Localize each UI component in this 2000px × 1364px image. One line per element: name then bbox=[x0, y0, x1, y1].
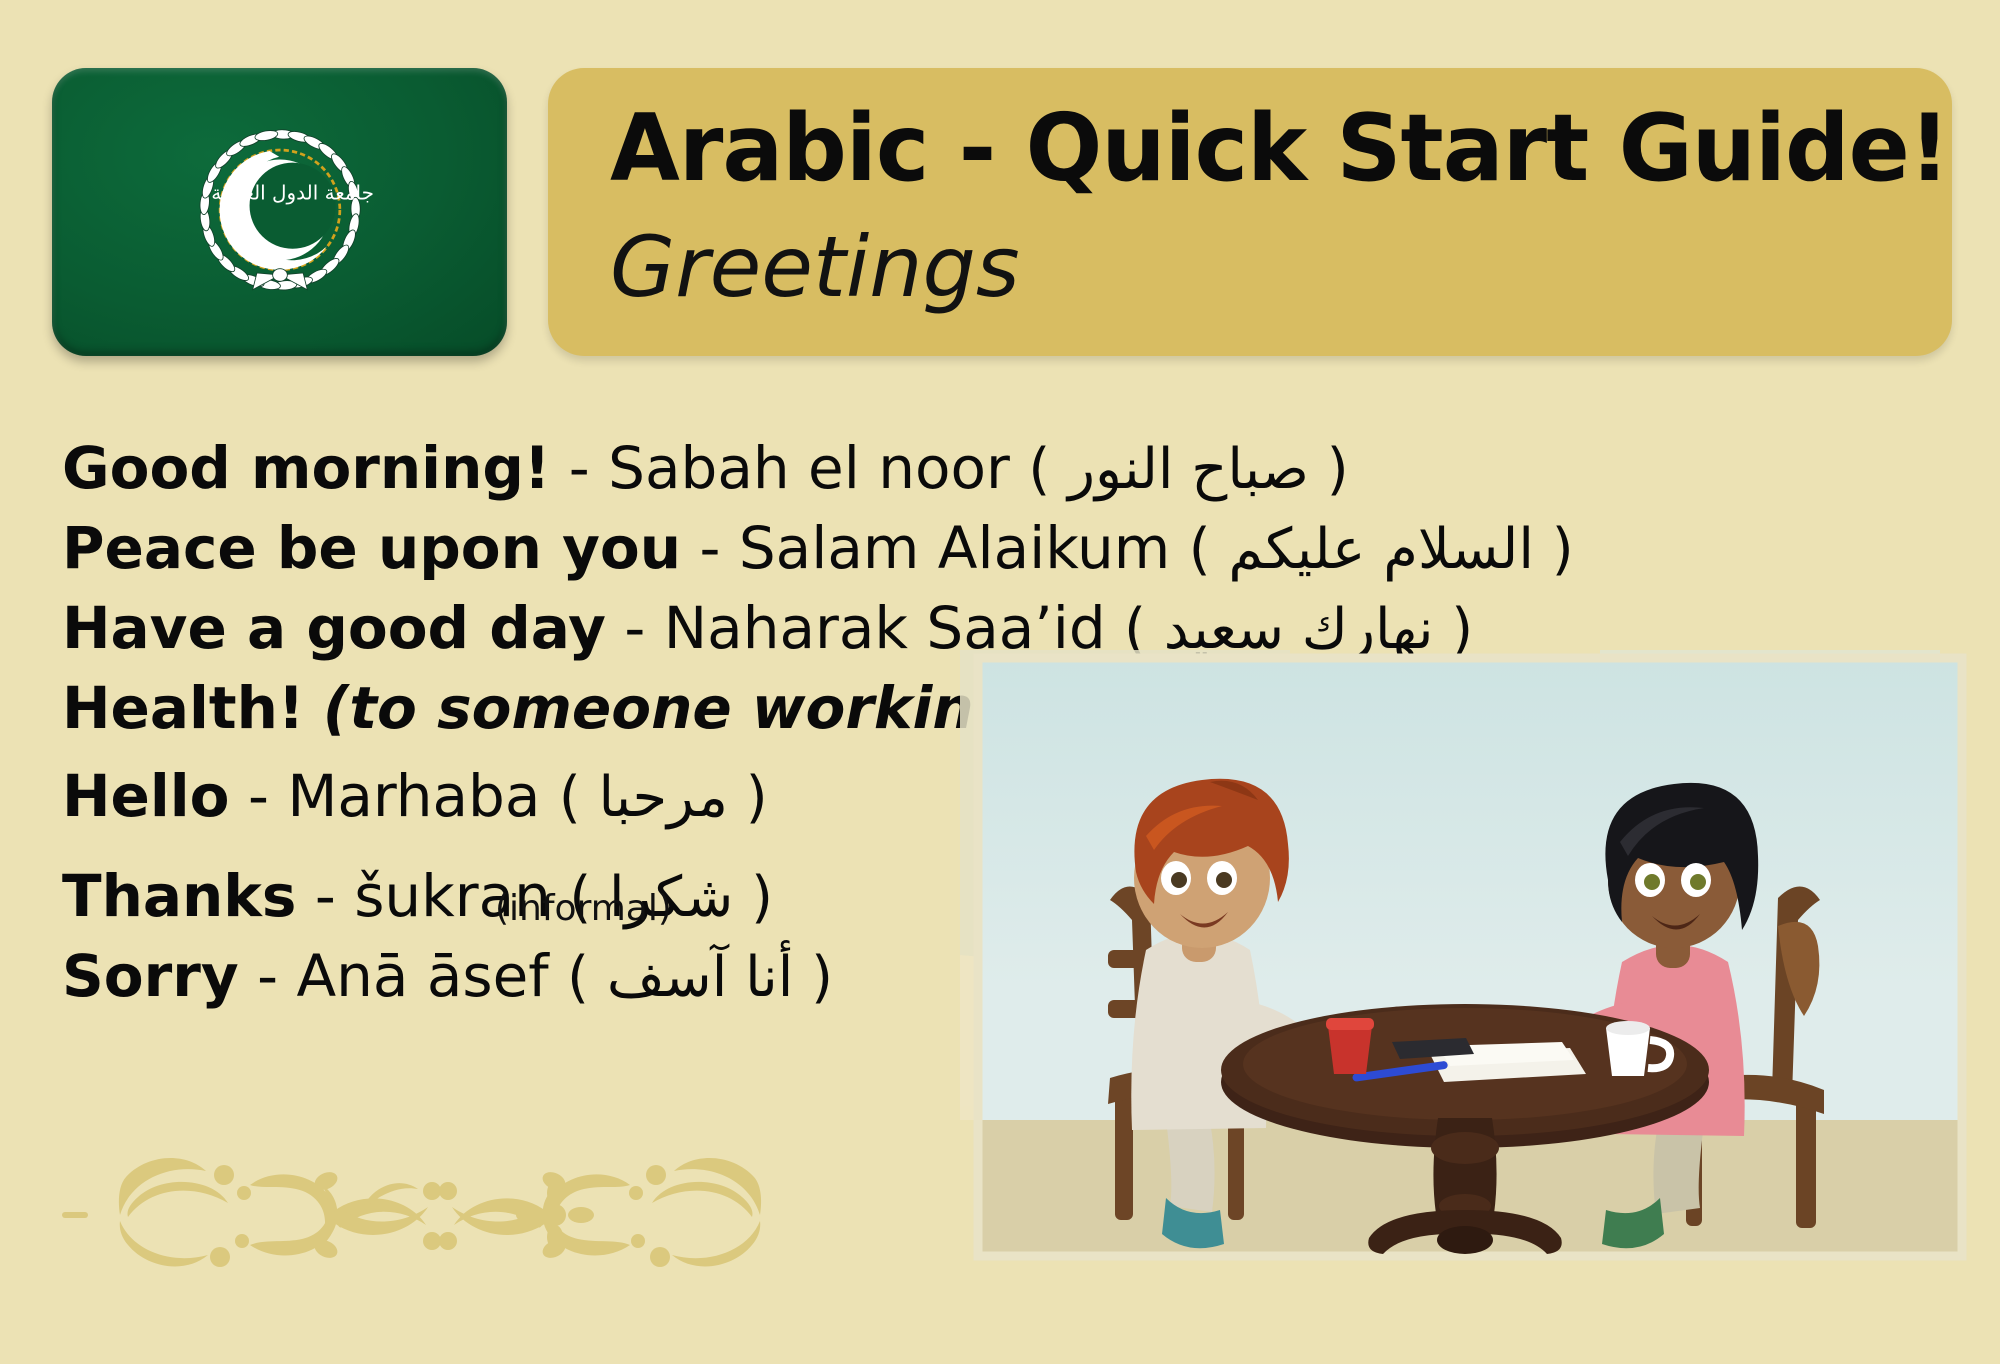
phrase-arabic: ( صباح النور ) bbox=[1028, 437, 1348, 502]
page-title: Arabic - Quick Start Guide! bbox=[610, 94, 1949, 202]
phrase-dash: - bbox=[569, 434, 590, 502]
phrase-english: Peace be upon you bbox=[62, 514, 681, 582]
page-subtitle: Greetings bbox=[610, 218, 1020, 316]
phrase-arabic: ( مرحبا ) bbox=[559, 765, 768, 830]
white-mug bbox=[1606, 1028, 1650, 1076]
arabesque-divider-ornament bbox=[60, 1140, 1050, 1290]
phrase-english: Have a good day bbox=[62, 594, 606, 662]
phrase-note: (to someone working) bbox=[323, 674, 1042, 742]
phrase-english: Thanks bbox=[62, 862, 296, 930]
phrase-row: Sorry - Anā āsef ( أنا آسف ) bbox=[0, 936, 833, 1016]
red-cup bbox=[1328, 1026, 1372, 1074]
phrase-english: Hello bbox=[62, 762, 230, 830]
phrase-row: Peace be upon you - Salam Alaikum ( السل… bbox=[0, 508, 1574, 588]
emblem-arabic-text: جامعة الدول العربية bbox=[211, 180, 374, 204]
header: جامعة الدول العربية Arabic - Quick Start… bbox=[0, 0, 2000, 370]
phrase-arabic: ( السلام عليكم ) bbox=[1189, 517, 1574, 582]
phrase-transliteration: Anā āsef bbox=[296, 942, 548, 1010]
phrase-arabic: ( أنا آسف ) bbox=[567, 945, 833, 1010]
phrase-dash: - bbox=[248, 762, 269, 830]
phrase-transliteration: Salam Alaikum bbox=[739, 514, 1170, 582]
informal-annotation: (informal) bbox=[495, 888, 672, 929]
title-plate: Arabic - Quick Start Guide! Greetings bbox=[548, 68, 1952, 356]
phrase-english: Health! bbox=[62, 674, 304, 742]
phrase-row: Good morning! - Sabah el noor ( صباح الن… bbox=[0, 428, 1349, 508]
phrase-row: Hello - Marhaba ( مرحبا ) bbox=[0, 756, 768, 836]
two-children-at-table-illustration bbox=[960, 650, 1980, 1350]
phrase-dash: - bbox=[624, 594, 645, 662]
phrase-english: Good morning! bbox=[62, 434, 550, 502]
phrase-dash: - bbox=[699, 514, 720, 582]
arab-league-emblem-icon: جامعة الدول العربية bbox=[175, 107, 385, 317]
phrase-english: Sorry bbox=[62, 942, 239, 1010]
arab-league-flag: جامعة الدول العربية bbox=[52, 68, 507, 356]
phrase-dash: - bbox=[257, 942, 278, 1010]
phrase-dash: - bbox=[315, 862, 336, 930]
phrase-transliteration: Sabah el noor bbox=[608, 434, 1010, 502]
phrase-transliteration: Marhaba bbox=[287, 762, 540, 830]
